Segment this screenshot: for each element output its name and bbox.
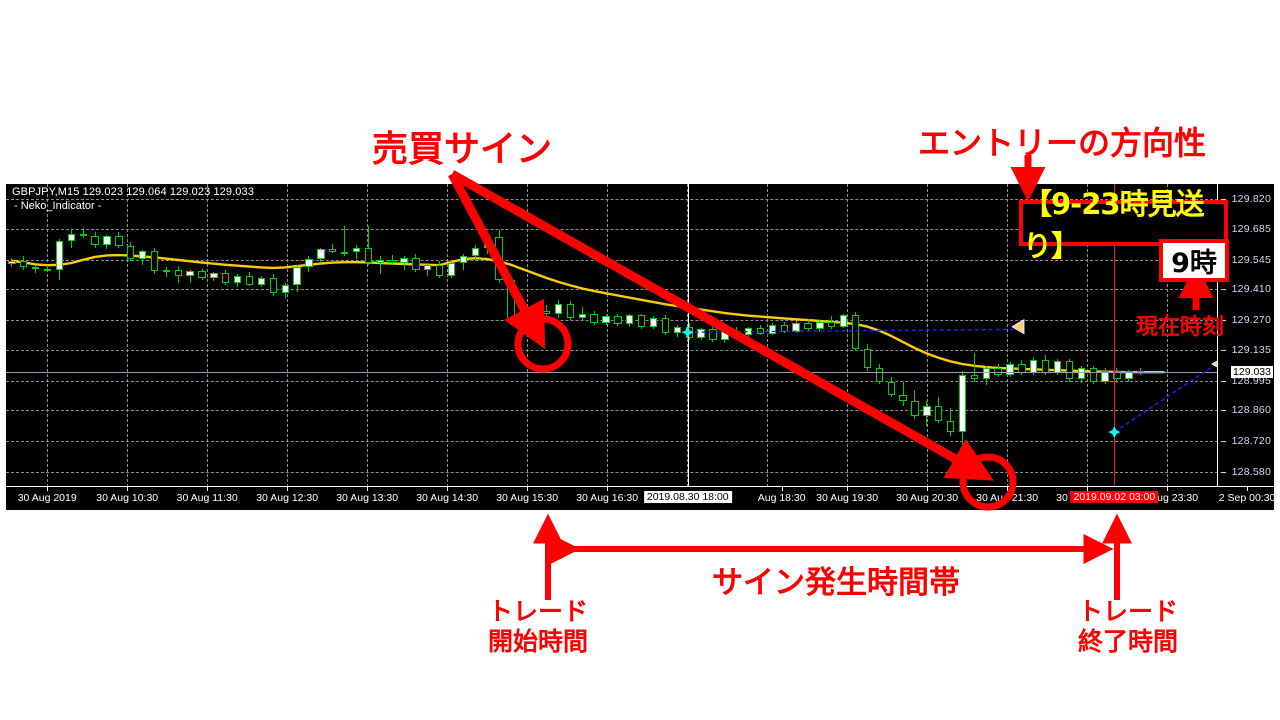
price-tick-mark xyxy=(1221,381,1226,382)
target-arrow-1 xyxy=(1012,320,1024,334)
price-axis[interactable]: 129.820129.685129.545129.410129.270129.1… xyxy=(1217,184,1274,487)
symbol-header: GBPJPY,M15 129.023 129.064 129.023 129.0… xyxy=(12,186,254,198)
trade-start-line1: トレード xyxy=(488,597,588,627)
price-tick-mark xyxy=(1221,441,1226,442)
mt4-chart-window[interactable]: GBPJPY,M15 129.023 129.064 129.023 129.0… xyxy=(4,182,1276,512)
price-tick-label: 128.580 xyxy=(1232,466,1271,478)
time-tick-label: 30 Aug 19:30 xyxy=(816,492,878,504)
signal-label: 売買サイン xyxy=(372,120,552,172)
price-tick-label: 129.270 xyxy=(1232,314,1271,326)
time-tick-mark xyxy=(782,487,783,491)
trade-end-line1: トレード xyxy=(1078,597,1178,627)
price-tick-mark xyxy=(1221,289,1226,290)
time-tick-mark xyxy=(127,487,128,491)
time-tick-label: 30 Aug 11:30 xyxy=(177,492,238,504)
indicator-label: - Neko_Indicator - xyxy=(14,200,101,212)
price-tick-mark xyxy=(1221,472,1226,473)
time-tick-mark xyxy=(1167,487,1168,491)
time-tick-mark xyxy=(1007,487,1008,491)
price-tick-label: 129.545 xyxy=(1232,254,1271,266)
price-tick-label: 128.860 xyxy=(1232,404,1271,416)
price-tick-mark xyxy=(1221,410,1226,411)
time-tick-mark xyxy=(927,487,928,491)
price-tick-label: 129.685 xyxy=(1232,223,1271,235)
time-tick-label: 30 Aug 2019 xyxy=(18,492,77,504)
price-tick-mark xyxy=(1221,229,1226,230)
time-tick-mark xyxy=(287,487,288,491)
buy-signal-2 xyxy=(1108,426,1120,438)
screenshot-root: GBPJPY,M15 129.023 129.064 129.023 129.0… xyxy=(0,0,1280,720)
current-price-label: 129.033 xyxy=(1231,366,1273,378)
entry-direction-label: エントリーの方向性 xyxy=(918,118,1206,164)
trade-end-label: トレード 終了時間 xyxy=(1078,597,1178,657)
price-tick-label: 129.410 xyxy=(1232,283,1271,295)
price-tick-label: 129.135 xyxy=(1232,344,1271,356)
signal-level-2 xyxy=(1114,363,1218,432)
time-tick-label: 2 Sep 00:30 xyxy=(1219,492,1276,504)
price-tick-mark xyxy=(1221,260,1226,261)
time-tick-label: Aug 18:30 xyxy=(758,492,806,504)
signal-level-lines xyxy=(6,184,1218,487)
time-tick-label: 30 Aug 15:30 xyxy=(496,492,558,504)
trade-end-line2: 終了時間 xyxy=(1078,627,1178,657)
price-tick-mark xyxy=(1221,199,1226,200)
trade-start-line2: 開始時間 xyxy=(488,627,588,657)
time-tick-label: 30 Aug 16:30 xyxy=(576,492,638,504)
time-axis[interactable]: 30 Aug 201930 Aug 10:3030 Aug 11:3030 Au… xyxy=(6,486,1274,510)
time-tick-label: 30 Aug 21:30 xyxy=(976,492,1038,504)
time-tick-mark xyxy=(447,487,448,491)
crosshair-time-label: 2019.08.30 18:00 xyxy=(644,491,732,503)
signal-level-1 xyxy=(688,329,1018,332)
time-tick-mark xyxy=(47,487,48,491)
time-tick-label: 30 Aug 12:30 xyxy=(256,492,318,504)
time-tick-mark xyxy=(607,487,608,491)
time-tick-mark xyxy=(1247,487,1248,491)
buy-signal-1 xyxy=(682,326,694,338)
trade-start-label: トレード 開始時間 xyxy=(488,597,588,657)
price-tick-mark xyxy=(1221,350,1226,351)
signal-window-label: サイン発生時間帯 xyxy=(712,557,960,602)
time-tick-mark xyxy=(367,487,368,491)
price-tick-label: 128.720 xyxy=(1232,435,1271,447)
time-tick-mark xyxy=(527,487,528,491)
time-tick-label: 30 Aug 10:30 xyxy=(96,492,158,504)
time-tick-label: 30 Aug 13:30 xyxy=(336,492,398,504)
time-tick-mark xyxy=(207,487,208,491)
time-tick-label: 30 Aug 14:30 xyxy=(416,492,478,504)
price-tick-mark xyxy=(1221,320,1226,321)
time-tick-mark xyxy=(847,487,848,491)
current-time-label-axis: 2019.09.02 03:00 xyxy=(1070,491,1158,503)
chart-plot-area[interactable]: GBPJPY,M15 129.023 129.064 129.023 129.0… xyxy=(6,184,1218,487)
price-tick-label: 129.820 xyxy=(1232,193,1271,205)
time-tick-label: 30 Aug 20:30 xyxy=(896,492,958,504)
